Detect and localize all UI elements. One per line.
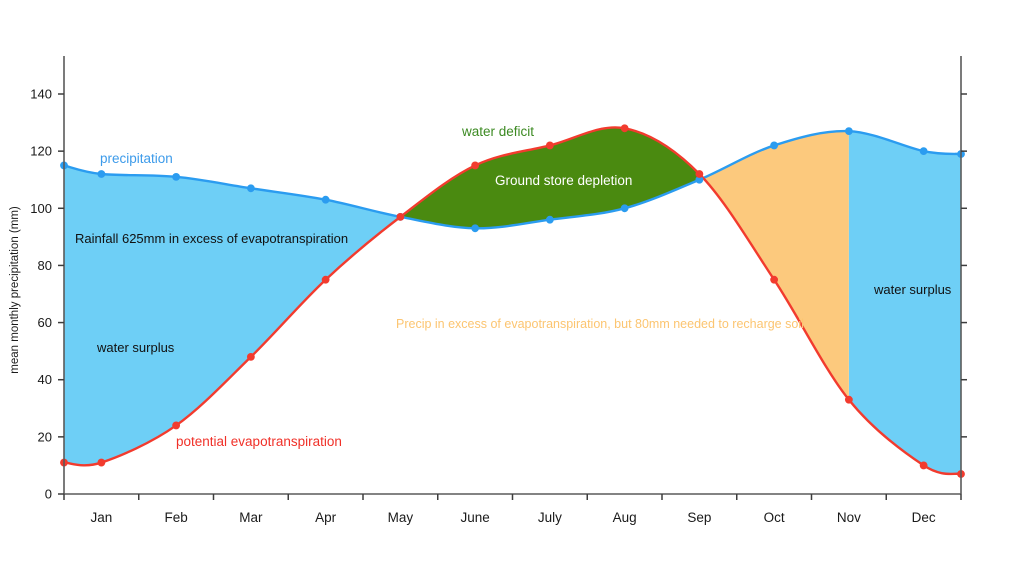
x-tick-label-apr: Apr (315, 510, 337, 525)
annotation-potential-evapotranspiration: potential evapotranspiration (176, 434, 342, 449)
x-tick-label-mar: Mar (239, 510, 263, 525)
x-tick-labels: JanFebMarAprMayJuneJulyAugSepOctNovDec (90, 510, 935, 525)
annotation-water-deficit: water deficit (461, 124, 534, 139)
y-axis-title: mean monthly precipitation (mm) (9, 206, 21, 374)
data-point[interactable] (845, 396, 853, 404)
x-tick-group (64, 494, 961, 500)
data-point[interactable] (471, 162, 479, 170)
x-tick-label-may: May (388, 510, 414, 525)
annotation-water-surplus-right: water surplus (873, 282, 952, 297)
y-tick-label: 60 (38, 315, 52, 330)
y-tick-group-right (961, 94, 967, 437)
data-point[interactable] (97, 459, 105, 467)
data-point[interactable] (546, 216, 554, 224)
data-point[interactable] (546, 142, 554, 150)
y-tick-label: 100 (30, 201, 52, 216)
x-tick-label-aug: Aug (613, 510, 637, 525)
chart-canvas: 020406080100120140 JanFebMarAprMayJuneJu… (0, 0, 1024, 564)
data-point[interactable] (97, 170, 105, 178)
data-point[interactable] (322, 276, 330, 284)
data-point[interactable] (920, 462, 928, 470)
x-tick-label-june: June (460, 510, 489, 525)
data-point[interactable] (172, 173, 180, 181)
y-tick-label: 140 (30, 87, 52, 102)
region-water-surplus-right (849, 131, 961, 474)
region-water-surplus-left (64, 165, 401, 465)
annotation-ground-store-depletion: Ground store depletion (495, 173, 632, 188)
x-tick-label-nov: Nov (837, 510, 861, 525)
data-point[interactable] (770, 276, 778, 284)
data-point[interactable] (471, 224, 479, 232)
x-tick-label-sep: Sep (687, 510, 711, 525)
y-tick-labels: 020406080100120140 (30, 87, 52, 502)
x-tick-label-july: July (538, 510, 562, 525)
y-tick-label: 40 (38, 372, 52, 387)
annotation-water-surplus-left: water surplus (96, 340, 175, 355)
data-point[interactable] (621, 204, 629, 212)
y-tick-label: 120 (30, 144, 52, 159)
data-point[interactable] (695, 170, 703, 178)
y-tick-label: 80 (38, 258, 52, 273)
x-tick-label-jan: Jan (90, 510, 112, 525)
y-tick-group (58, 94, 64, 494)
x-tick-label-dec: Dec (912, 510, 936, 525)
y-tick-label: 20 (38, 429, 52, 444)
data-point[interactable] (920, 147, 928, 155)
annotation-rainfall-excess: Rainfall 625mm in excess of evapotranspi… (75, 231, 348, 246)
x-tick-label-feb: Feb (164, 510, 187, 525)
data-point[interactable] (770, 142, 778, 150)
data-point[interactable] (247, 353, 255, 361)
x-tick-label-oct: Oct (764, 510, 785, 525)
data-point[interactable] (396, 213, 404, 221)
annotation-recharge-note: Precip in excess of evapotranspiration, … (396, 317, 804, 331)
data-point[interactable] (621, 124, 629, 132)
water-balance-chart: 020406080100120140 JanFebMarAprMayJuneJu… (0, 0, 1024, 564)
data-point[interactable] (172, 422, 180, 430)
data-point[interactable] (247, 184, 255, 192)
annotation-precipitation: precipitation (100, 151, 173, 166)
y-tick-label: 0 (45, 487, 52, 502)
data-point[interactable] (845, 127, 853, 135)
data-point[interactable] (322, 196, 330, 204)
region-soil-recharge (704, 131, 849, 400)
